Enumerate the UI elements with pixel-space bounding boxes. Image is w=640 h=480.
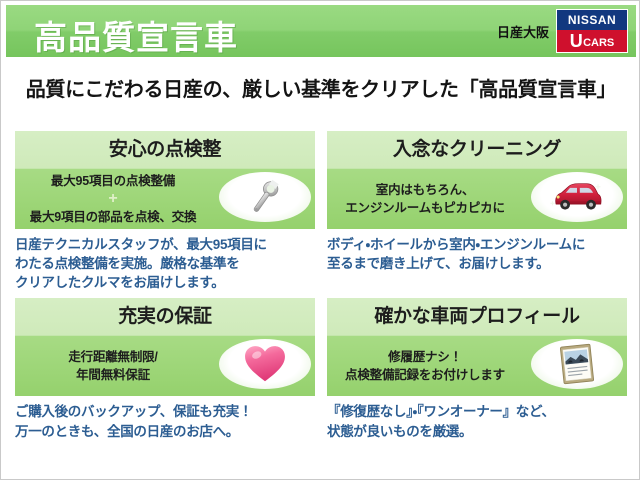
- feature-icon-well: [529, 334, 625, 394]
- feature-panel: 入念なクリーニング 室内はもちろん、 エンジンルームもピカピカに: [327, 131, 627, 229]
- feature-body-line1: 走行距離無制限/: [68, 348, 157, 366]
- feature-cell-inspection: 安心の点検整 最大95項目の点検整備 + 最大9項目の部品を点検、交換: [15, 131, 315, 292]
- feature-body-line2: 年間無料保証: [76, 366, 150, 384]
- feature-caption: 『修復歴なし』・『ワンオーナー』など、 状態が良いものを厳選。: [327, 402, 627, 440]
- caption-line1: ご購入後のバックアップ、保証も充実！: [15, 402, 315, 421]
- feature-body: 修履歴ナシ！ 点検整備記録をお付けします: [327, 336, 523, 396]
- dealer-name: 日産大阪: [497, 22, 549, 41]
- feature-title: 充実の保証: [15, 301, 315, 328]
- feature-panel: 安心の点検整 最大95項目の点検整備 + 最大9項目の部品を点検、交換: [15, 131, 315, 229]
- feature-body-line2: エンジンルームもピカピカに: [345, 199, 505, 217]
- header-band: 高品質宣言車 日産大阪 NISSAN UCARS: [6, 5, 636, 57]
- nissan-wordmark: NISSAN: [557, 10, 627, 30]
- feature-title: 入念なクリーニング: [327, 134, 627, 161]
- feature-icon-well: [217, 334, 313, 394]
- feature-body: 室内はもちろん、 エンジンルームもピカピカに: [327, 169, 523, 229]
- feature-title: 確かな車両プロフィール: [327, 301, 627, 328]
- nissan-ucars-logo: NISSAN UCARS: [556, 9, 628, 53]
- feature-body: 走行距離無制限/ 年間無料保証: [15, 336, 211, 396]
- caption-line1: 日産テクニカルスタッフが、最大95項目に: [15, 235, 315, 254]
- caption-line2: 至るまで磨き上げて、お届けします。: [327, 254, 627, 273]
- heart-icon: [237, 342, 293, 386]
- caption-line3: クリアしたクルマをお届けします。: [15, 273, 315, 292]
- plus-symbol: +: [108, 191, 117, 207]
- feature-body: 最大95項目の点検整備 + 最大9項目の部品を点検、交換: [15, 169, 211, 229]
- feature-caption: 日産テクニカルスタッフが、最大95項目に わたる点検整備を実施。厳格な基準を ク…: [15, 235, 315, 292]
- feature-body-line1: 修履歴ナシ！: [388, 348, 462, 366]
- ucars-letters-cars: CARS: [583, 37, 614, 49]
- feature-icon-well: [529, 167, 625, 227]
- wrench-icon: [237, 175, 293, 219]
- feature-cell-cleaning: 入念なクリーニング 室内はもちろん、 エンジンルームもピカピカに: [327, 131, 627, 292]
- ucars-letter-u: U: [570, 31, 583, 51]
- caption-line2: 状態が良いものを厳選。: [327, 422, 627, 441]
- page-title: 高品質宣言車: [34, 11, 238, 59]
- brand-block: 日産大阪 NISSAN UCARS: [497, 9, 628, 53]
- feature-caption: ボディ・ホイールから室内・エンジンルームに 至るまで磨き上げて、お届けします。: [327, 235, 627, 273]
- feature-panel: 充実の保証 走行距離無制限/ 年間無料保証: [15, 298, 315, 396]
- feature-cell-warranty: 充実の保証 走行距離無制限/ 年間無料保証: [15, 298, 315, 440]
- feature-body-line2: 最大9項目の部品を点検、交換: [30, 208, 197, 226]
- feature-grid: 安心の点検整 最大95項目の点検整備 + 最大9項目の部品を点検、交換: [15, 131, 627, 441]
- feature-body-line1: 最大95項目の点検整備: [51, 172, 175, 190]
- feature-caption: ご購入後のバックアップ、保証も充実！ 万一のときも、全国の日産のお店へ。: [15, 402, 315, 440]
- feature-title: 安心の点検整: [15, 134, 315, 161]
- feature-icon-well: [217, 167, 313, 227]
- feature-body-line1: 室内はもちろん、: [376, 181, 474, 199]
- ucars-wordmark: UCARS: [557, 30, 627, 52]
- feature-panel: 確かな車両プロフィール 修履歴ナシ！ 点検整備記録をお付けします: [327, 298, 627, 396]
- inspection-record-icon: [549, 342, 605, 386]
- caption-line1: ボディ・ホイールから室内・エンジンルームに: [327, 235, 627, 254]
- caption-line2: わたる点検整備を実施。厳格な基準を: [15, 254, 315, 273]
- promo-poster: 高品質宣言車 日産大阪 NISSAN UCARS 品質にこだわる日産の、厳しい基…: [0, 0, 640, 480]
- red-car-icon: [549, 175, 605, 219]
- tagline: 品質にこだわる日産の、厳しい基準をクリアした「高品質宣言車」: [1, 73, 640, 102]
- feature-body-line2: 点検整備記録をお付けします: [345, 366, 505, 384]
- caption-line2: 万一のときも、全国の日産のお店へ。: [15, 422, 315, 441]
- caption-line1: 『修復歴なし』・『ワンオーナー』など、: [327, 402, 627, 421]
- feature-cell-vehicle-profile: 確かな車両プロフィール 修履歴ナシ！ 点検整備記録をお付けします: [327, 298, 627, 440]
